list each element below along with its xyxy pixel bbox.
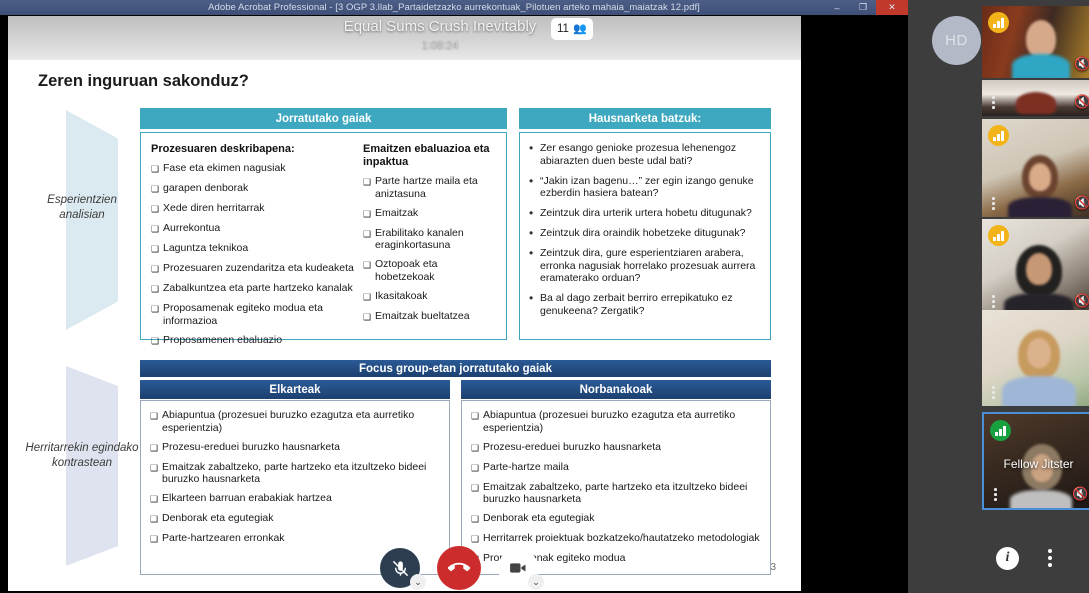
phase-label-1: Esperientzienanalisian	[22, 193, 142, 223]
list-item-label: Fase eta ekimen nagusiak	[163, 162, 356, 176]
screen-root: Adobe Acrobat Professional - [3 OGP 3.ll…	[0, 0, 1089, 593]
list-item-label: Denborak eta egutegiak	[162, 512, 442, 526]
list-item: Zeintzuk dira oraindik hobetzeke ditugun…	[529, 227, 765, 240]
list-item-label: Xede diren herritarrak	[163, 202, 356, 216]
checkbox-icon	[151, 262, 163, 276]
list-item: Ikasitakoak	[363, 290, 499, 304]
focus-group-header: Focus group-etan jorratutako gaiak	[140, 360, 771, 377]
window-controls: – ❐ ✕	[824, 0, 908, 15]
window-titlebar: Adobe Acrobat Professional - [3 OGP 3.ll…	[0, 0, 908, 15]
checkbox-icon	[471, 409, 483, 434]
list-item: Xede diren herritarrak	[151, 202, 356, 216]
list-item-label: Zabalkuntzea eta parte hartzeko kanalak	[163, 282, 356, 296]
mic-options-chevron-down-icon[interactable]: ⌄	[410, 574, 426, 590]
checkbox-icon	[471, 512, 483, 526]
mic-muted-icon: 🔇	[1074, 94, 1088, 110]
checkbox-icon	[151, 162, 163, 176]
connection-signal-icon	[988, 125, 1009, 146]
checkbox-icon	[363, 290, 375, 304]
mic-muted-icon: 🔇	[1074, 56, 1088, 72]
checkbox-icon	[151, 222, 163, 236]
box-body-jorratutako-gaiak: Prozesuaren deskribapena: Fase eta ekime…	[140, 132, 507, 340]
box-header-norbanakoak: Norbanakoak	[461, 380, 771, 399]
bullet-icon	[529, 175, 540, 201]
list-item: Prozesuaren zuzendaritza eta kudeaketa	[151, 262, 356, 276]
box-header-jorratutako-gaiak: Jorratutako gaiak	[140, 108, 507, 129]
thumbnail-options-icon[interactable]	[988, 385, 999, 400]
list-item: Emaitzak zabaltzeko, parte hartzeko eta …	[150, 461, 442, 486]
participant-thumbnail-4[interactable]: 🔇	[982, 219, 1089, 315]
list-item-label: Aurrekontua	[163, 222, 356, 236]
box-a-col2-title: Emaitzen ebaluazioa eta inpaktua	[363, 143, 499, 169]
phase-label-line: kontrastean	[14, 456, 150, 471]
list-item-label: Prozesu-ereduei buruzko hausnarketa	[483, 441, 763, 455]
more-options-icon[interactable]	[1048, 547, 1052, 569]
checkbox-icon	[150, 512, 162, 526]
checkbox-icon	[363, 175, 375, 200]
checkbox-icon	[151, 202, 163, 216]
list-item: Elkarteen barruan erabakiak hartzea	[150, 492, 442, 506]
mic-muted-icon: 🔇	[1074, 195, 1088, 211]
list-item: Proposamenen ebaluazio	[151, 334, 356, 348]
list-item: Emaitzak	[363, 207, 499, 221]
list-item: Prozesu-ereduei buruzko hausnarketa	[471, 441, 763, 455]
list-item: Emaitzak zabaltzeko, parte hartzeko eta …	[471, 481, 763, 506]
checkbox-icon	[151, 334, 163, 348]
thumbnail-options-icon[interactable]	[990, 487, 1001, 502]
list-item-label: Herritarrek proiektuak bozkatzeko/hautat…	[483, 532, 763, 546]
list-item: Prozesu-ereduei buruzko hausnarketa	[150, 441, 442, 455]
checkbox-icon	[363, 258, 375, 283]
checkbox-icon	[471, 532, 483, 546]
pdf-page-content: Zeren inguruan sakonduz? Esperientzienan…	[8, 16, 801, 591]
list-item: Abiapuntua (prozesuei buruzko ezagutza e…	[471, 409, 763, 434]
checkbox-icon	[150, 532, 162, 546]
list-item: Aurrekontua	[151, 222, 356, 236]
participant-count-badge[interactable]: 11 👥	[551, 18, 593, 40]
list-item: Parte-hartzearen erronkak	[150, 532, 442, 546]
list-item: Laguntza teknikoa	[151, 242, 356, 256]
bullet-icon	[529, 227, 540, 240]
participant-filmstrip: HD 🔇 🔇 🔇	[908, 0, 1089, 593]
list-item-label: Parte-hartze maila	[483, 461, 763, 475]
checkbox-icon	[363, 310, 375, 324]
list-item: Erabilitako kanalen eraginkortasuna	[363, 227, 499, 252]
list-item-label: Abiapuntua (prozesuei buruzko ezagutza e…	[162, 409, 442, 434]
list-item: Proposamenak egiteko modua eta informazi…	[151, 302, 356, 327]
info-icon[interactable]: i	[996, 547, 1019, 570]
hangup-control[interactable]	[437, 546, 481, 590]
camera-control[interactable]: ⌄	[498, 548, 538, 588]
checkbox-icon	[151, 302, 163, 327]
box-b-list: Zer esango genioke prozesua lehenengoz a…	[529, 142, 765, 325]
connection-signal-icon	[990, 420, 1011, 441]
checkbox-icon	[151, 282, 163, 296]
list-item: Zeintzuk dira urterik urtera hobetu ditu…	[529, 207, 765, 220]
list-item-label: “Jakin izan bagenu…” zer egin izango gen…	[540, 175, 765, 201]
list-item: Herritarrek proiektuak bozkatzeko/hautat…	[471, 532, 763, 546]
list-item-label: Proposamenak egiteko modua eta informazi…	[163, 302, 356, 327]
list-item: Zeintzuk dira, gure esperientziaren arab…	[529, 247, 765, 285]
list-item: Ba al dago zerbait berriro errepikatuko …	[529, 292, 765, 318]
call-controls: ⌄ ⌄	[380, 546, 538, 590]
list-item: Denborak eta egutegiak	[471, 512, 763, 526]
bullet-icon	[529, 292, 540, 318]
hd-avatar-badge: HD	[932, 16, 981, 65]
checkbox-icon	[150, 409, 162, 434]
list-item-label: Oztopoak eta hobetzekoak	[375, 258, 499, 283]
checkbox-icon	[363, 207, 375, 221]
page-number: 3	[770, 562, 776, 573]
list-item-label: Emaitzak bueltatzea	[375, 310, 499, 324]
list-item-label: Prozesu-ereduei buruzko hausnarketa	[162, 441, 442, 455]
connection-signal-icon	[988, 12, 1009, 33]
minimize-button[interactable]: –	[824, 0, 850, 15]
phone-hangup-icon[interactable]	[437, 546, 481, 590]
box-a-col1-list: Fase eta ekimen nagusiakgarapen denborak…	[151, 162, 356, 347]
participant-thumbnail-5[interactable]	[982, 310, 1089, 406]
list-item-label: Emaitzak zabaltzeko, parte hartzeko eta …	[483, 481, 763, 506]
checkbox-icon	[150, 441, 162, 455]
box-a-col1-title: Prozesuaren deskribapena:	[151, 143, 356, 156]
box-header-elkarteak: Elkarteak	[140, 380, 450, 399]
list-item-label: Parte hartze maila eta aniztasuna	[375, 175, 499, 200]
pdf-viewport[interactable]: Zeren inguruan sakonduz? Esperientzienan…	[8, 16, 880, 591]
mic-muted-icon: 🔇	[1072, 486, 1086, 502]
slide-title: Zeren inguruan sakonduz?	[38, 72, 249, 91]
list-item-label: Emaitzak zabaltzeko, parte hartzeko eta …	[162, 461, 442, 486]
list-item-label: Ikasitakoak	[375, 290, 499, 304]
list-item: Zer esango genioke prozesua lehenengoz a…	[529, 142, 765, 168]
list-item: Parte hartze maila eta aniztasuna	[363, 175, 499, 200]
list-item-label: Denborak eta egutegiak	[483, 512, 763, 526]
list-item: Emaitzak bueltatzea	[363, 310, 499, 324]
participant-thumbnail-3[interactable]: 🔇	[982, 119, 1089, 217]
list-item: Zabalkuntzea eta parte hartzeko kanalak	[151, 282, 356, 296]
participant-thumbnail-6[interactable]: Fellow Jitster 🔇	[982, 412, 1089, 510]
thumbnail-options-icon[interactable]	[988, 95, 999, 110]
checkbox-icon	[151, 182, 163, 196]
list-item-label: Zeintzuk dira, gure esperientziaren arab…	[540, 247, 765, 285]
close-button[interactable]: ✕	[876, 0, 908, 15]
list-item-label: Parte-hartzearen erronkak	[162, 532, 442, 546]
list-item-label: Laguntza teknikoa	[163, 242, 356, 256]
box-a-col2-list: Parte hartze maila eta aniztasunaEmaitza…	[363, 175, 499, 323]
participant-thumbnail-2[interactable]: 🔇	[982, 80, 1089, 116]
window-title: Adobe Acrobat Professional - [3 OGP 3.ll…	[208, 2, 700, 13]
box-a-column-2: Emaitzen ebaluazioa eta inpaktua Parte h…	[363, 143, 499, 330]
list-item-label: Prozesuaren zuzendaritza eta kudeaketa	[163, 262, 356, 276]
list-item-label: Zeintzuk dira urterik urtera hobetu ditu…	[540, 207, 765, 220]
phase-label-line: analisian	[22, 208, 142, 223]
list-item: Fase eta ekimen nagusiak	[151, 162, 356, 176]
list-item: Denborak eta egutegiak	[150, 512, 442, 526]
bullet-icon	[529, 247, 540, 285]
list-item-label: Proposamenen ebaluazio	[163, 334, 356, 348]
people-icon: 👥	[573, 24, 587, 35]
phase-label-line: Herritarrekin egindako	[14, 441, 150, 456]
list-item: Parte-hartze maila	[471, 461, 763, 475]
list-item-label: Elkarteen barruan erabakiak hartzea	[162, 492, 442, 506]
pdf-page: Zeren inguruan sakonduz? Esperientzienan…	[8, 16, 801, 591]
box-a-column-1: Prozesuaren deskribapena: Fase eta ekime…	[151, 143, 356, 354]
list-item: garapen denborak	[151, 182, 356, 196]
checkbox-icon	[363, 227, 375, 252]
filmstrip-toolbar: i	[908, 533, 1089, 583]
mic-muted-icon: 🔇	[1074, 293, 1088, 309]
list-item: “Jakin izan bagenu…” zer egin izango gen…	[529, 175, 765, 201]
list-item: Abiapuntua (prozesuei buruzko ezagutza e…	[150, 409, 442, 434]
bullet-icon	[529, 207, 540, 220]
checkbox-icon	[471, 481, 483, 506]
list-item-label: Ba al dago zerbait berriro errepikatuko …	[540, 292, 765, 318]
box-header-hausnarketa-batzuk: Hausnarketa batzuk:	[519, 108, 771, 129]
list-item-label: Zer esango genioke prozesua lehenengoz a…	[540, 142, 765, 168]
mic-control[interactable]: ⌄	[380, 548, 420, 588]
list-item-label: Erabilitako kanalen eraginkortasuna	[375, 227, 499, 252]
participant-count: 11	[557, 23, 569, 35]
box-c-list: Abiapuntua (prozesuei buruzko ezagutza e…	[150, 409, 442, 552]
shared-screen[interactable]: Adobe Acrobat Professional - [3 OGP 3.ll…	[0, 0, 908, 593]
acrobat-window: Adobe Acrobat Professional - [3 OGP 3.ll…	[0, 0, 908, 593]
box-body-hausnarketa-batzuk: Zer esango genioke prozesua lehenengoz a…	[519, 132, 771, 340]
connection-signal-icon	[988, 225, 1009, 246]
list-item-label: Emaitzak	[375, 207, 499, 221]
tile-view-icon[interactable]	[945, 547, 967, 569]
phase-label-2: Herritarrekin egindakokontrastean	[14, 441, 150, 471]
checkbox-icon	[471, 461, 483, 475]
participant-display-name: Fellow Jitster	[984, 457, 1089, 471]
checkbox-icon	[150, 461, 162, 486]
thumbnail-options-icon[interactable]	[988, 196, 999, 211]
phase-label-line: Esperientzien	[22, 193, 142, 208]
camera-options-chevron-down-icon[interactable]: ⌄	[528, 574, 544, 590]
thumbnail-options-icon[interactable]	[988, 294, 999, 309]
list-item: Oztopoak eta hobetzekoak	[363, 258, 499, 283]
list-item-label: garapen denborak	[163, 182, 356, 196]
participant-thumbnail-1[interactable]: 🔇	[982, 6, 1089, 78]
checkbox-icon	[150, 492, 162, 506]
bullet-icon	[529, 142, 540, 168]
list-item-label: Abiapuntua (prozesuei buruzko ezagutza e…	[483, 409, 763, 434]
maximize-button[interactable]: ❐	[850, 0, 876, 15]
list-item-label: Zeintzuk dira oraindik hobetzeke ditugun…	[540, 227, 765, 240]
checkbox-icon	[151, 242, 163, 256]
checkbox-icon	[471, 441, 483, 455]
